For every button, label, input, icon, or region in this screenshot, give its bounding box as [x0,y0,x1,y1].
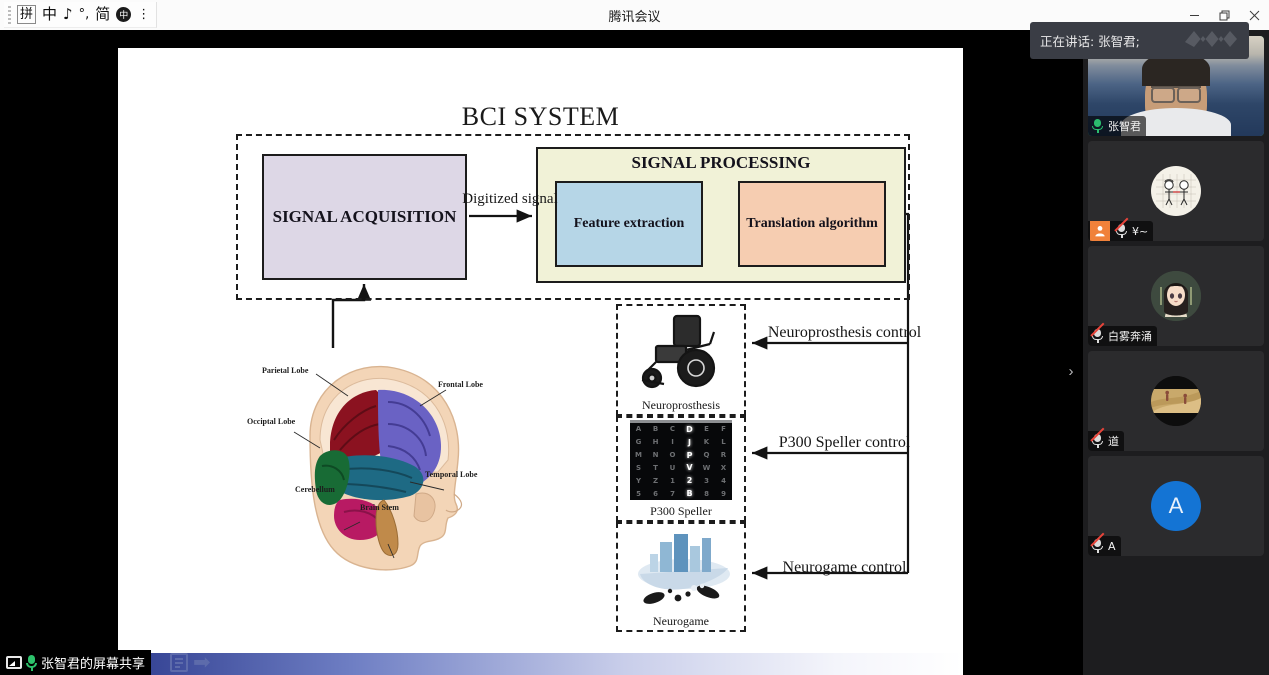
ime-script-toggle[interactable]: 简 [95,7,110,22]
photo-avatar-icon [1151,376,1201,426]
p300-cell: F [721,425,726,433]
participant-name: 道 [1108,433,1119,449]
participant-tile[interactable]: 白雾奔涌 [1088,246,1264,346]
brain-label-occipital: Occiptal Lobe [247,417,295,426]
translation-algorithm-box: Translation algorithm [738,181,886,267]
shared-slide: BCI SYSTEM [118,48,963,653]
p300-cell: G [636,438,642,446]
p300-cell: S [636,464,641,472]
microphone-icon [26,655,37,671]
brain-label-parietal: Parietal Lobe [262,366,308,375]
participant-tile[interactable]: A A [1088,456,1264,556]
p300-cell: T [653,464,658,472]
p300-cell: 1 [670,477,675,485]
p300-cell: 3 [704,477,709,485]
p300-cell: L [721,438,725,446]
participant-name: 张智君 [1108,118,1141,134]
couple-avatar-icon [1156,174,1196,208]
avatar [1151,271,1201,321]
p300-cell: 8 [704,490,709,498]
tencent-meeting-logo-icon [1183,28,1239,53]
microphone-muted-icon[interactable] [1090,328,1105,344]
participant-name-bar: A [1088,536,1121,556]
p300-cell: Y [636,477,641,485]
p300-cell: N [653,451,659,459]
ime-punctuation-icon[interactable]: °, [79,8,90,21]
microphone-muted-icon[interactable] [1090,538,1105,554]
ime-toolbar[interactable]: 拼 中 ♪ °, 简 中 ⋮ [4,2,157,28]
avatar [1151,166,1201,216]
brain-label-frontal: Frontal Lobe [438,380,483,389]
participant-name: A [1108,540,1116,553]
participant-name-bar: 张智君 [1088,116,1146,136]
rail-collapse-chevron-icon[interactable]: › [1061,348,1081,394]
notes-icon[interactable] [170,653,188,672]
p300-cell: 2 [687,476,693,485]
participant-name-bar: 白雾奔涌 [1088,326,1157,346]
ime-drag-handle[interactable] [8,6,11,24]
anime-girl-avatar-icon [1151,271,1201,321]
ime-globe-icon[interactable]: 中 [116,7,131,22]
participant-tile[interactable]: ¥~ [1088,141,1264,241]
p300-cell: U [670,464,676,472]
p300-cell: O [670,451,676,459]
p300-cell: 7 [670,490,675,498]
feature-extraction-box: Feature extraction [555,181,703,267]
participant-name: 白雾奔涌 [1108,328,1152,344]
screen-share-label: 张智君的屏幕共享 [41,653,145,672]
brain-label-cerebellum: Cerebellum [295,485,335,494]
p300-cell: B [653,425,658,433]
speaking-toast: 正在讲话: 张智君; [1030,22,1249,59]
speaking-toast-text: 正在讲话: 张智君; [1040,31,1140,50]
participant-name: ¥~ [1132,225,1148,238]
brain-label-temporal: Temporal Lobe [425,470,477,479]
brain-label-brain-stem: Brain Stem [360,503,399,512]
ime-language-toggle[interactable]: 中 [42,7,57,22]
arrow-right-icon[interactable]: ➡ [193,652,211,673]
caption-neurogame: Neurogame [616,614,746,629]
participant-tile[interactable]: 道 [1088,351,1264,451]
meeting-window: 腾讯会议 拼 中 ♪ °, 简 中 ⋮ [0,0,1269,675]
screen-share-indicator[interactable]: 张智君的屏幕共享 [0,650,151,675]
p300-cell: C [670,425,675,433]
control-label-neurogame: Neurogame control [757,558,932,578]
signal-acquisition-box: SIGNAL ACQUISITION [262,154,467,280]
digitized-signal-label: Digitized signal [450,190,570,208]
screen-share-toolbar[interactable]: ➡ [170,650,211,675]
p300-cell: 9 [721,490,726,498]
bci-diagram: BCI SYSTEM [118,48,963,653]
p300-cell: I [671,438,674,446]
caption-neuroprosthesis: Neuroprosthesis [616,398,746,413]
caption-p300-speller: P300 Speller [616,504,746,519]
p300-cell: J [688,438,691,447]
neurogame-icon [626,528,738,610]
p300-cell: H [653,438,659,446]
host-badge [1090,221,1110,241]
p300-grid: ABCDEFGHIJKLMNOPQRSTUVWXYZ1234567B89 [630,420,732,500]
p300-cell: 5 [636,490,641,498]
avatar: A [1151,481,1201,531]
signal-processing-title: SIGNAL PROCESSING [536,153,906,173]
p300-cell: W [703,464,711,472]
shared-screen-stage[interactable]: BCI SYSTEM [0,30,1083,675]
p300-cell: Z [653,477,658,485]
p300-cell: R [721,451,726,459]
participant-name-bar: ¥~ [1088,221,1153,241]
wheelchair-icon [630,310,730,394]
p300-cell: X [721,464,726,472]
p300-cell: V [686,463,692,472]
p300-cell: Q [704,451,710,459]
microphone-muted-icon[interactable] [1090,433,1105,449]
p300-cell: A [636,425,641,433]
person-icon [1094,225,1106,237]
remote-desktop-taskbar [118,653,963,675]
ime-tone-icon[interactable]: ♪ [63,7,73,22]
p300-cell: 4 [721,477,726,485]
p300-cell: D [686,425,693,434]
microphone-muted-icon[interactable] [1114,223,1129,239]
p300-cell: K [704,438,709,446]
p300-cell: B [686,489,692,498]
p300-cell: E [704,425,709,433]
participant-name-bar: 道 [1088,431,1124,451]
control-label-neuroprosthesis: Neuroprosthesis control [757,323,932,343]
p300-cell: M [635,451,642,459]
p300-cell: P [687,451,693,460]
ime-menu-icon[interactable]: ⋮ [137,8,150,21]
screen-icon [6,656,22,669]
p300-speller-grid: ABCDEFGHIJKLMNOPQRSTUVWXYZ1234567B89 [630,420,732,500]
participant-rail: › 张智君 [1083,30,1269,675]
control-label-p300-speller: P300 Speller control [757,433,932,453]
ime-pinyin-icon[interactable]: 拼 [17,5,36,24]
avatar [1151,376,1201,426]
p300-cell: 6 [653,490,658,498]
microphone-icon[interactable] [1090,118,1105,134]
